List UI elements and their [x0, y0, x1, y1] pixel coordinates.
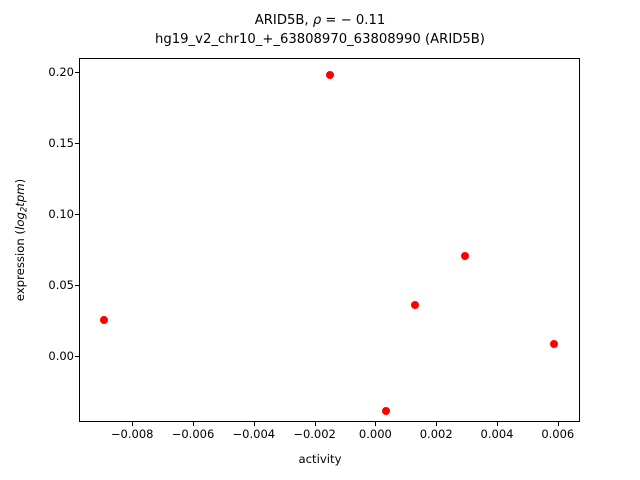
x-axis-label: activity	[0, 452, 640, 466]
x-tick	[375, 422, 376, 426]
y-tick-label: 0.20	[48, 65, 74, 79]
x-tick-label: 0.000	[359, 427, 392, 441]
y-tick-label: 0.05	[48, 278, 74, 292]
data-point	[326, 71, 334, 79]
data-point	[100, 316, 108, 324]
x-tick	[436, 422, 437, 426]
data-point	[461, 252, 469, 260]
y-tick-label: 0.15	[48, 136, 74, 150]
y-tick	[75, 143, 79, 144]
plot-axes	[79, 58, 580, 422]
data-point	[382, 407, 390, 415]
title-rho-value: = − 0.11	[321, 13, 385, 28]
x-tick	[315, 422, 316, 426]
y-tick	[75, 214, 79, 215]
chart-title-line-2: hg19_v2_chr10_+_63808970_63808990 (ARID5…	[0, 30, 640, 49]
x-tick-label: −0.002	[293, 427, 336, 441]
plot-area	[80, 59, 579, 421]
chart-title-line-1: ARID5B, ρ = − 0.11	[0, 11, 640, 30]
y-tick	[75, 285, 79, 286]
x-tick-label: 0.002	[420, 427, 453, 441]
y-axis-label-log: log	[13, 212, 27, 230]
x-tick	[193, 422, 194, 426]
y-axis-label-sub: 2	[18, 207, 28, 212]
x-tick-label: −0.006	[172, 427, 215, 441]
x-tick	[254, 422, 255, 426]
x-tick	[132, 422, 133, 426]
y-axis-label: expression (log2tpm)	[13, 58, 31, 422]
data-point	[411, 301, 419, 309]
y-axis-label-tpm: tpm	[13, 183, 27, 206]
scatter-plot-figure: ARID5B, ρ = − 0.11 hg19_v2_chr10_+_63808…	[0, 0, 640, 480]
y-tick	[75, 72, 79, 73]
x-tick-label: −0.004	[233, 427, 276, 441]
x-tick-label: 0.006	[541, 427, 574, 441]
x-tick	[497, 422, 498, 426]
y-tick-label: 0.10	[48, 207, 74, 221]
x-tick-label: −0.008	[111, 427, 154, 441]
title-gene: ARID5B,	[255, 13, 313, 28]
y-tick	[75, 356, 79, 357]
title-rho-symbol: ρ	[313, 13, 321, 28]
x-tick	[558, 422, 559, 426]
data-point	[550, 340, 558, 348]
x-tick-label: 0.004	[481, 427, 514, 441]
y-tick-label: 0.00	[48, 349, 74, 363]
y-axis-label-prefix: expression (	[13, 230, 27, 301]
chart-title: ARID5B, ρ = − 0.11 hg19_v2_chr10_+_63808…	[0, 11, 640, 49]
y-axis-label-suffix: )	[13, 179, 27, 184]
